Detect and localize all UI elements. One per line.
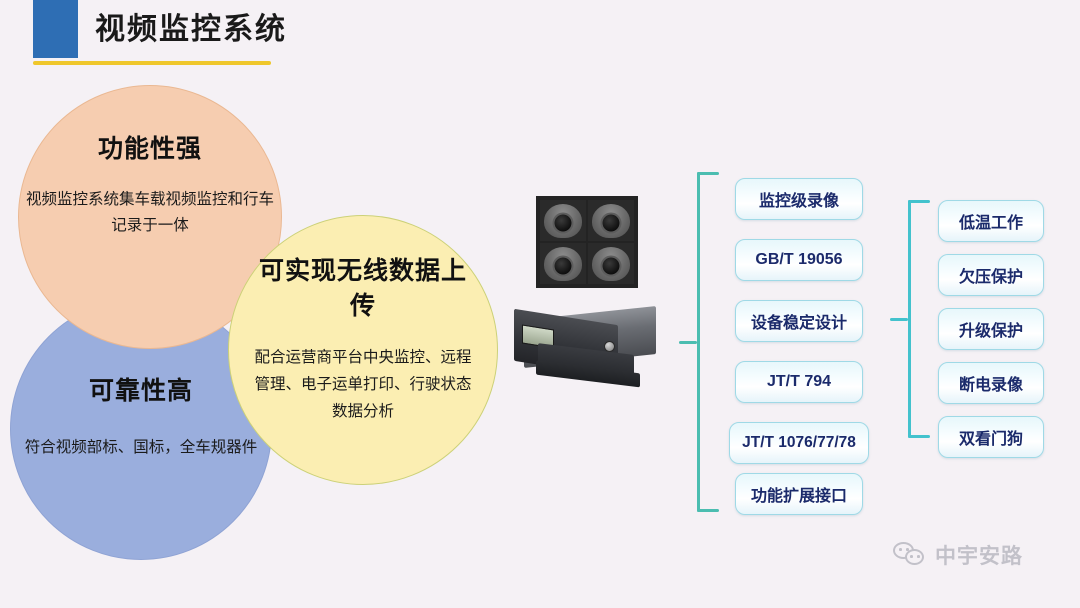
- bracket-top-arm: [697, 172, 719, 175]
- bracket-secondary-specs: [908, 200, 928, 438]
- bracket-vertical: [908, 200, 911, 438]
- mdvr-device-image: DS-8D: [508, 305, 663, 391]
- bracket-bottom-arm: [697, 509, 719, 512]
- bracket-top-arm: [908, 200, 930, 203]
- dome-camera-icon: [592, 247, 630, 281]
- watermark-text: 中宇安路: [935, 540, 1023, 570]
- spec-pill-secondary-4[interactable]: 断电录像: [938, 362, 1044, 404]
- wechat-dot: [910, 555, 913, 558]
- dome-camera-icon: [544, 247, 582, 281]
- mdvr-lock-knob: [604, 341, 615, 352]
- dome-camera-icon: [592, 204, 630, 238]
- circle-title-feature-strong: 功能性强: [98, 129, 202, 165]
- spec-pill-primary-4[interactable]: JT/T 794: [735, 361, 863, 403]
- wechat-dot: [906, 548, 909, 551]
- spec-pill-secondary-2[interactable]: 欠压保护: [938, 254, 1044, 296]
- camera-cell: [540, 243, 586, 284]
- spec-pill-secondary-1[interactable]: 低温工作: [938, 200, 1044, 242]
- camera-quad-view-image: [536, 196, 638, 288]
- bracket-vertical: [697, 172, 700, 512]
- spec-pill-secondary-5[interactable]: 双看门狗: [938, 416, 1044, 458]
- spec-pill-primary-1[interactable]: 监控级录像: [735, 178, 863, 220]
- bracket-primary-specs: [697, 172, 719, 512]
- spec-pill-primary-3[interactable]: 设备稳定设计: [735, 300, 863, 342]
- wechat-dot: [917, 555, 920, 558]
- dome-camera-icon: [544, 204, 582, 238]
- bracket-stub: [890, 318, 908, 321]
- camera-cell: [588, 200, 634, 241]
- spec-pill-secondary-3[interactable]: 升级保护: [938, 308, 1044, 350]
- spec-pill-primary-6[interactable]: 功能扩展接口: [735, 473, 863, 515]
- circle-body-reliability-high: 符合视频部标、国标，全车规器件: [23, 435, 259, 461]
- slide-canvas: 视频监控系统 功能性强 视频监控系统集车载视频监控和行车记录于一体 可靠性高 符…: [0, 0, 1080, 608]
- bracket-stub: [679, 341, 697, 344]
- title-underline-rule: [33, 61, 271, 65]
- watermark: 中宇安路: [893, 540, 1023, 570]
- page-title: 视频监控系统: [95, 8, 287, 52]
- circle-body-feature-strong: 视频监控系统集车载视频监控和行车记录于一体: [25, 187, 275, 239]
- circle-title-wireless-upload: 可实现无线数据上传: [258, 254, 468, 324]
- bracket-bottom-arm: [908, 435, 930, 438]
- wechat-bubble-small: [905, 549, 924, 565]
- wechat-dot: [899, 548, 902, 551]
- wechat-icon: [893, 542, 927, 568]
- circle-wireless-upload: 可实现无线数据上传 配合运营商平台中央监控、远程管理、电子运单打印、行驶状态数据…: [228, 215, 498, 485]
- spec-pill-primary-5[interactable]: JT/T 1076/77/78: [729, 422, 869, 464]
- spec-pill-primary-2[interactable]: GB/T 19056: [735, 239, 863, 281]
- title-accent-square: [33, 0, 78, 58]
- camera-cell: [588, 243, 634, 284]
- camera-cell: [540, 200, 586, 241]
- circle-title-reliability-high: 可靠性高: [89, 371, 193, 407]
- circle-body-wireless-upload: 配合运营商平台中央监控、远程管理、电子运单打印、行驶状态数据分析: [247, 344, 479, 425]
